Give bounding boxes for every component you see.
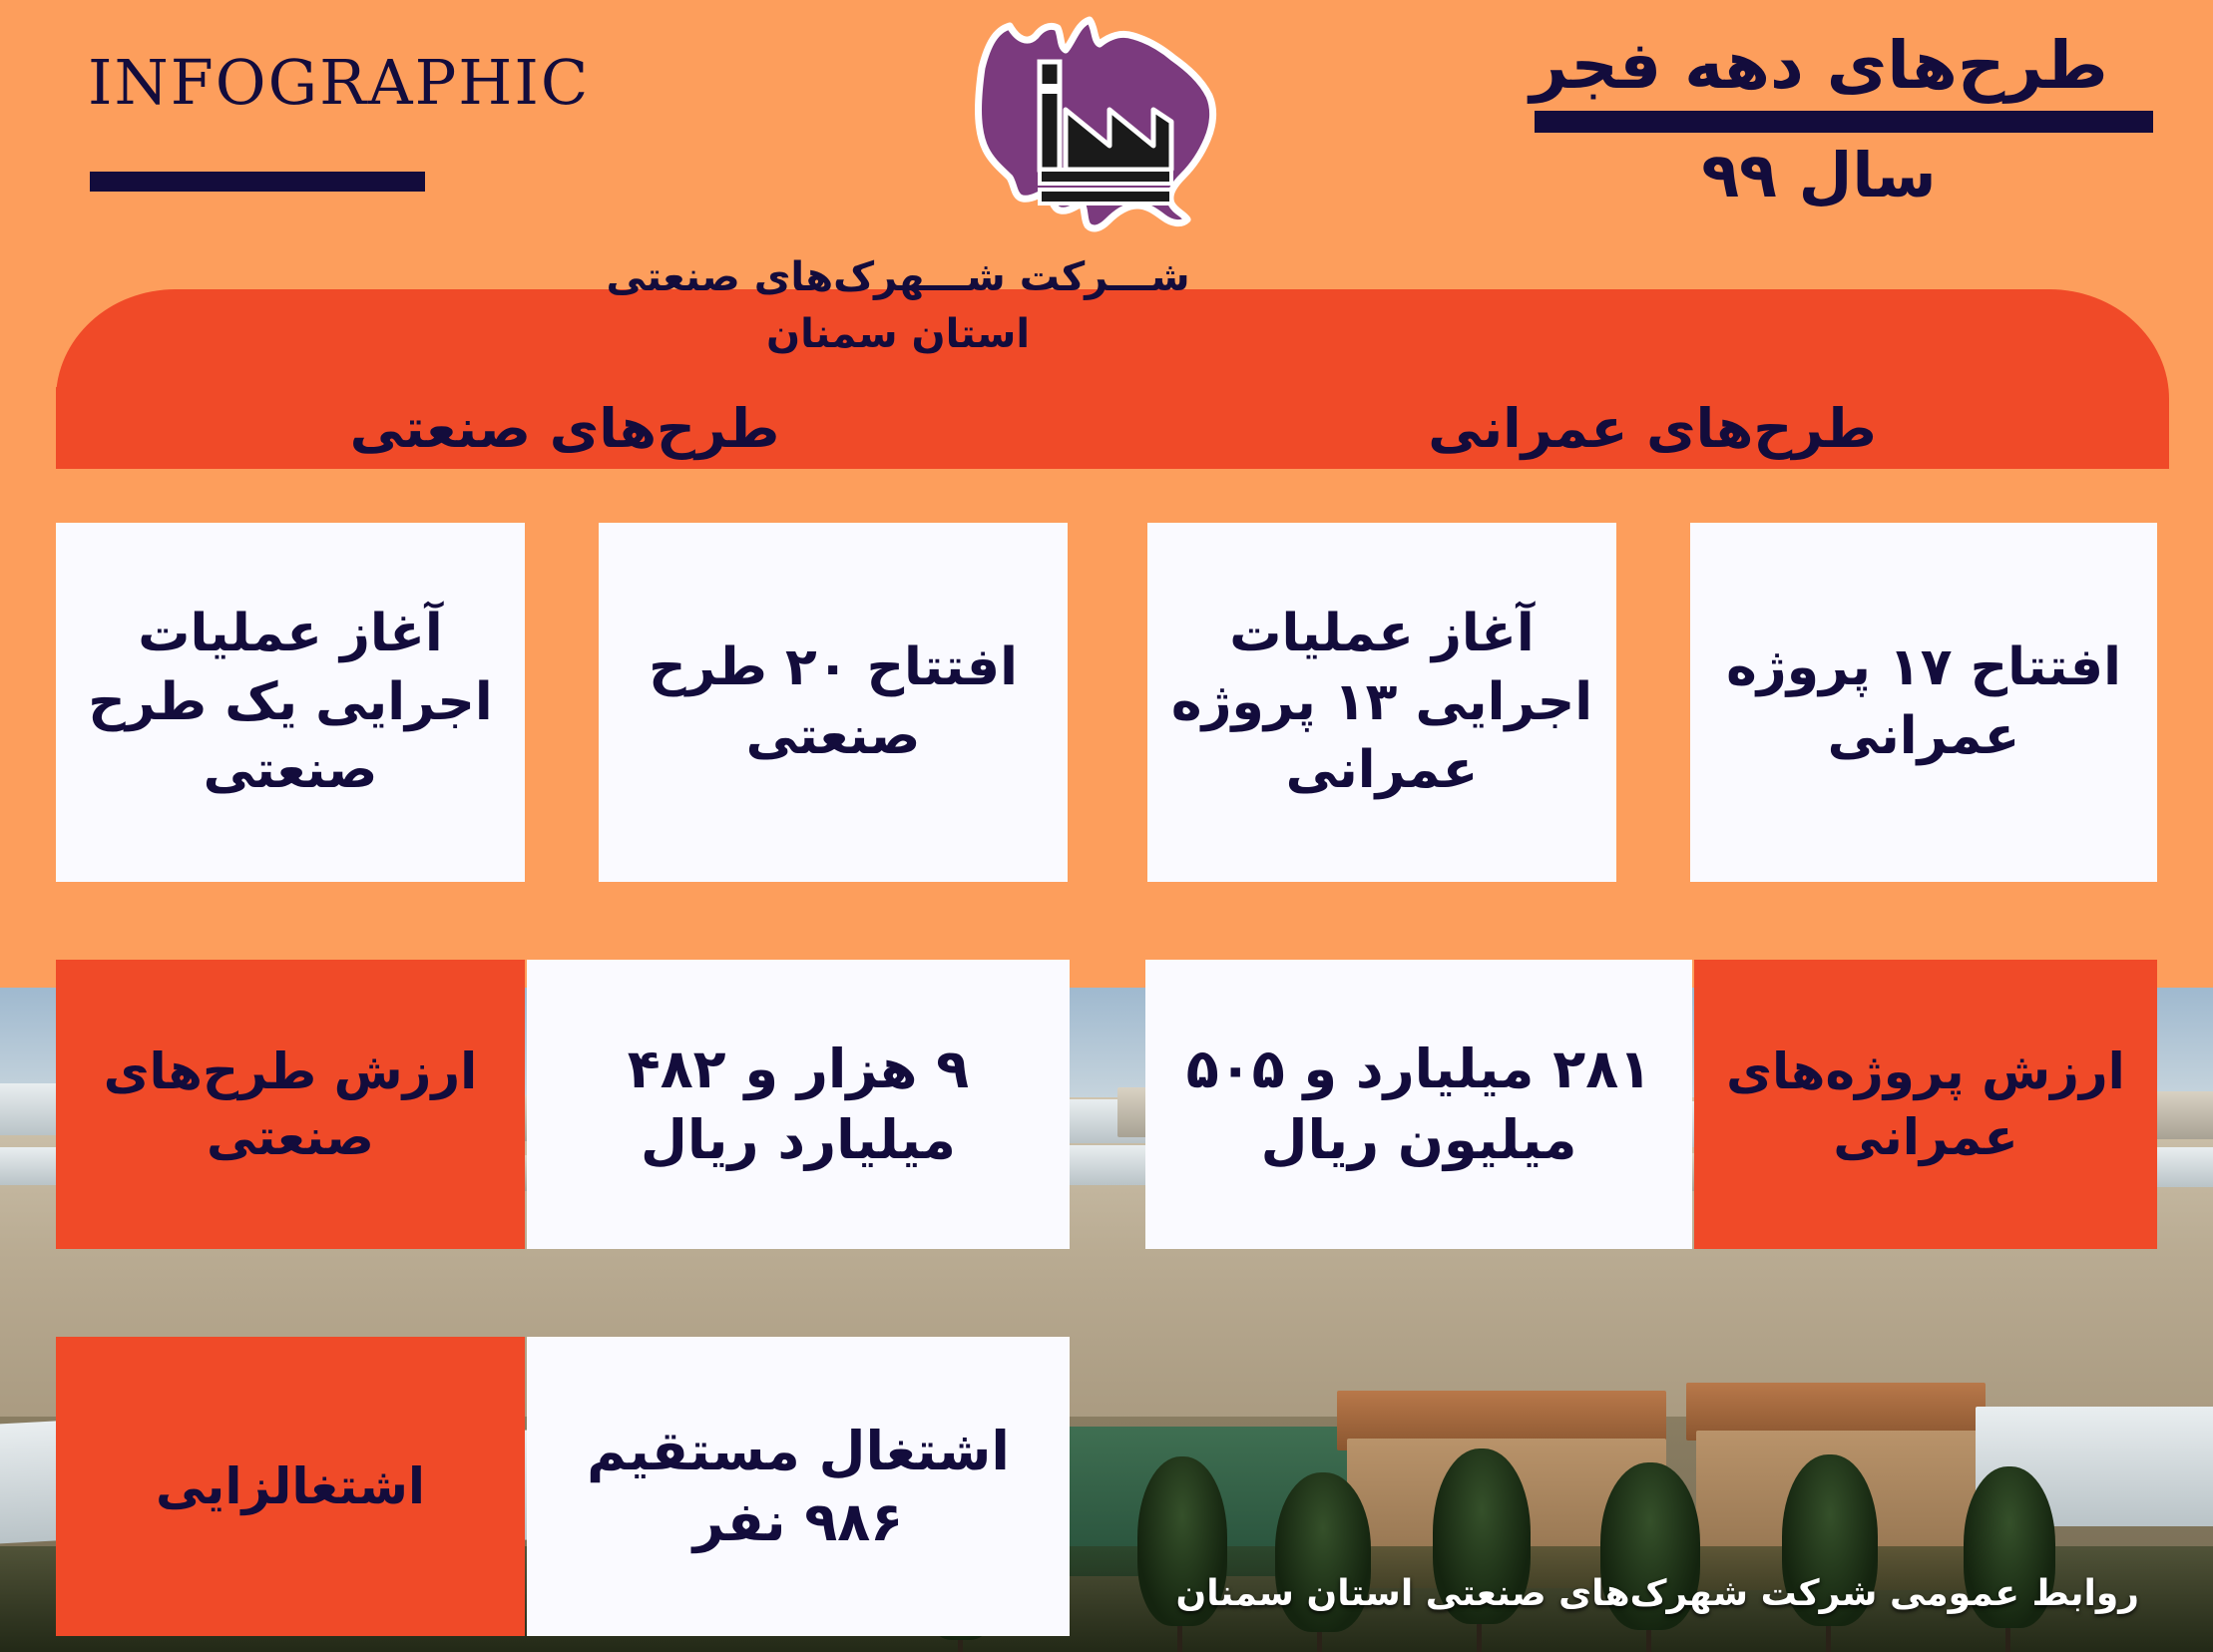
page-title-main: طرح‌های دهه فجر [1395,30,2153,103]
section-heading-industrial: طرح‌های صنعتی [56,387,1074,469]
card-employment-value: اشتغال مستقیم ۹۸۶ نفر [527,1337,1070,1636]
organization-name-line2: استان سمنان [559,306,1237,363]
card-development-value: ۲۸۱ میلیارد و ۵۰۵ میلیون ریال [1145,960,1692,1249]
section-heading-development: طرح‌های عمرانی [1147,387,2157,469]
infographic-label: INFOGRAPHIC [88,46,590,119]
card-development-value-label: ارزش پروژه‌های عمرانی [1694,960,2157,1249]
card-industrial-value-label: ارزش طرح‌های صنعتی [56,960,525,1249]
card-industrial-value: ۹ هزار و ۴۸۲ میلیارد ریال [527,960,1070,1249]
organization-name-line1: شـــرکت شـــهرک‌های صنعتی [559,249,1237,306]
footer-credit: روابط عمومی شرکت شهرک‌های صنعتی استان سم… [1175,1573,2139,1614]
infographic-root: INFOGRAPHIC شـــرکت شـــهرک‌های صنعتی اس… [0,0,2213,1652]
card-industrial-start: آغاز عملیات اجرایی یک طرح صنعتی [56,523,525,882]
card-employment-label: اشتغالزایی [56,1337,525,1636]
page-title-underline [1535,111,2153,133]
page-title: طرح‌های دهه فجر سال ۹۹ [1395,30,2153,211]
card-industrial-open: افتتاح ۲۰ طرح صنعتی [599,523,1068,882]
page-title-year: سال ۹۹ [1395,139,2153,211]
card-development-start: آغاز عملیات اجرایی ۱۳ پروژه عمرانی [1147,523,1616,882]
card-development-open: افتتاح ۱۷ پروژه عمرانی [1690,523,2157,882]
iran-map-factory-logo [958,10,1247,249]
organization-name: شـــرکت شـــهرک‌های صنعتی استان سمنان [559,249,1237,363]
infographic-underline [90,172,425,192]
